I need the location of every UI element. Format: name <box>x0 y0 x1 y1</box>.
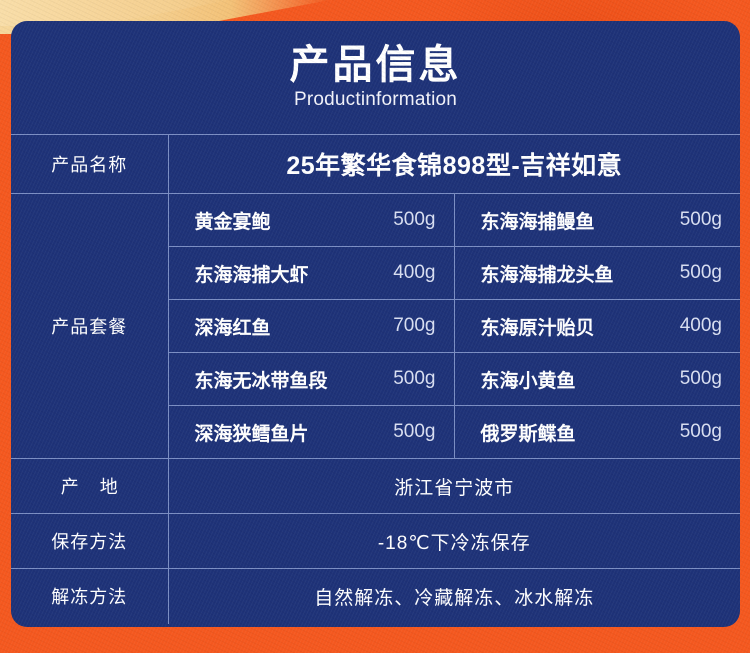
table-row-product-name: 产品名称 25年繁华食锦898型-吉祥如意 <box>11 135 740 194</box>
item-weight: 500g <box>680 368 722 390</box>
list-item: 东海海捕龙头鱼 500g <box>454 247 740 300</box>
list-item: 深海狭鳕鱼片 500g <box>168 406 454 459</box>
table-row-storage: 保存方法 -18℃下冷冻保存 <box>11 514 740 569</box>
item-weight: 500g <box>680 262 722 284</box>
item-weight: 500g <box>680 421 722 443</box>
table-row-package-1: 产品套餐 黄金宴鲍 500g 东海海捕鳗鱼 500g <box>11 194 740 247</box>
row-label-package: 产品套餐 <box>11 194 168 459</box>
row-label-storage: 保存方法 <box>11 514 168 569</box>
list-item: 东海小黄鱼 500g <box>454 353 740 406</box>
list-item: 东海海捕鳗鱼 500g <box>454 194 740 247</box>
product-info-table: 产品名称 25年繁华食锦898型-吉祥如意 产品套餐 黄金宴鲍 500g 东 <box>11 134 740 624</box>
row-value-thaw: 自然解冻、冷藏解冻、冰水解冻 <box>168 569 740 624</box>
list-item: 东海无冰带鱼段 500g <box>168 353 454 406</box>
list-item: 黄金宴鲍 500g <box>168 194 454 247</box>
row-label-thaw: 解冻方法 <box>11 569 168 624</box>
page-title: 产品信息 <box>290 44 462 87</box>
item-name: 东海海捕鳗鱼 <box>481 207 595 234</box>
table-row-thaw: 解冻方法 自然解冻、冷藏解冻、冰水解冻 <box>11 569 740 624</box>
row-label-origin: 产 地 <box>11 459 168 514</box>
item-name: 东海原汁贻贝 <box>481 313 595 340</box>
item-name: 黄金宴鲍 <box>195 207 271 234</box>
row-value-origin: 浙江省宁波市 <box>168 459 740 514</box>
product-info-card: 产品信息 Productinformation 产品名称 25年繁华食锦898型… <box>11 21 740 627</box>
row-value-product-name: 25年繁华食锦898型-吉祥如意 <box>168 135 740 194</box>
item-weight: 500g <box>393 368 435 390</box>
page-background: 产品信息 Productinformation 产品名称 25年繁华食锦898型… <box>0 0 750 653</box>
card-header: 产品信息 Productinformation <box>11 21 740 134</box>
item-weight: 500g <box>393 209 435 231</box>
item-name: 俄罗斯鲽鱼 <box>481 419 576 446</box>
item-name: 东海海捕大虾 <box>195 260 309 287</box>
item-name: 东海海捕龙头鱼 <box>481 260 614 287</box>
list-item: 东海原汁贻贝 400g <box>454 300 740 353</box>
item-weight: 400g <box>393 262 435 284</box>
table-row-origin: 产 地 浙江省宁波市 <box>11 459 740 514</box>
item-weight: 700g <box>393 315 435 337</box>
item-weight: 500g <box>393 421 435 443</box>
list-item: 俄罗斯鲽鱼 500g <box>454 406 740 459</box>
item-name: 东海无冰带鱼段 <box>195 366 328 393</box>
row-label-product-name: 产品名称 <box>11 135 168 194</box>
row-value-storage: -18℃下冷冻保存 <box>168 514 740 569</box>
list-item: 东海海捕大虾 400g <box>168 247 454 300</box>
item-name: 深海狭鳕鱼片 <box>195 419 309 446</box>
item-name: 深海红鱼 <box>195 313 271 340</box>
item-weight: 400g <box>680 315 722 337</box>
item-weight: 500g <box>680 209 722 231</box>
list-item: 深海红鱼 700g <box>168 300 454 353</box>
page-subtitle: Productinformation <box>294 89 457 111</box>
item-name: 东海小黄鱼 <box>481 366 576 393</box>
